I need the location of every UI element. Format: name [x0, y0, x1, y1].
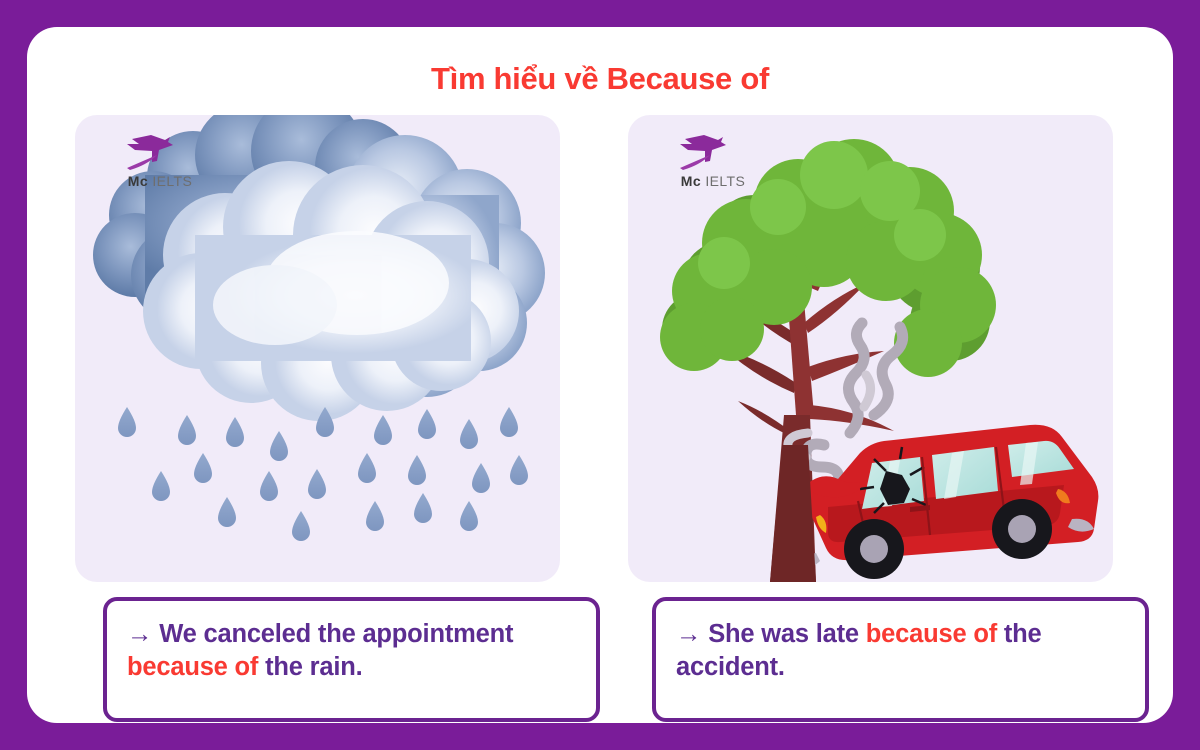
caption-highlight: because of [127, 653, 258, 681]
logo-brand-light: IELTS [152, 173, 192, 189]
arrow-icon: → [676, 620, 701, 648]
crashed-car [796, 425, 1098, 579]
illustration-panel-accident: Mc IELTS [628, 115, 1113, 582]
logo-brand-bold: Mc [128, 173, 148, 189]
arrow-icon: → [127, 620, 152, 648]
caption-text-after: the rain. [258, 653, 362, 681]
caption-text-before: She was late [708, 620, 866, 648]
tree-trunk-front [770, 445, 816, 582]
hummingbird-icon [121, 131, 179, 173]
logo-brand-bold: Mc [681, 173, 701, 189]
logo-brand-light: IELTS [705, 173, 745, 189]
logo-text: Mc IELTS [658, 173, 768, 189]
illustration-panel-rain: Mc IELTS [75, 115, 560, 582]
caption-highlight: because of [866, 620, 997, 648]
content-card: Tìm hiểu về Because of Mc IELTS [27, 27, 1173, 723]
raindrops [118, 407, 528, 541]
caption-rain: → We canceled the appointment because of… [103, 597, 600, 722]
logo-text: Mc IELTS [105, 173, 215, 189]
caption-accident: → She was late because of the accident. [652, 597, 1149, 722]
logo: Mc IELTS [658, 131, 768, 193]
caption-text-before: We canceled the appointment [159, 620, 513, 648]
hummingbird-icon [674, 131, 732, 173]
logo: Mc IELTS [105, 131, 215, 193]
page-title: Tìm hiểu về Because of [27, 61, 1173, 97]
